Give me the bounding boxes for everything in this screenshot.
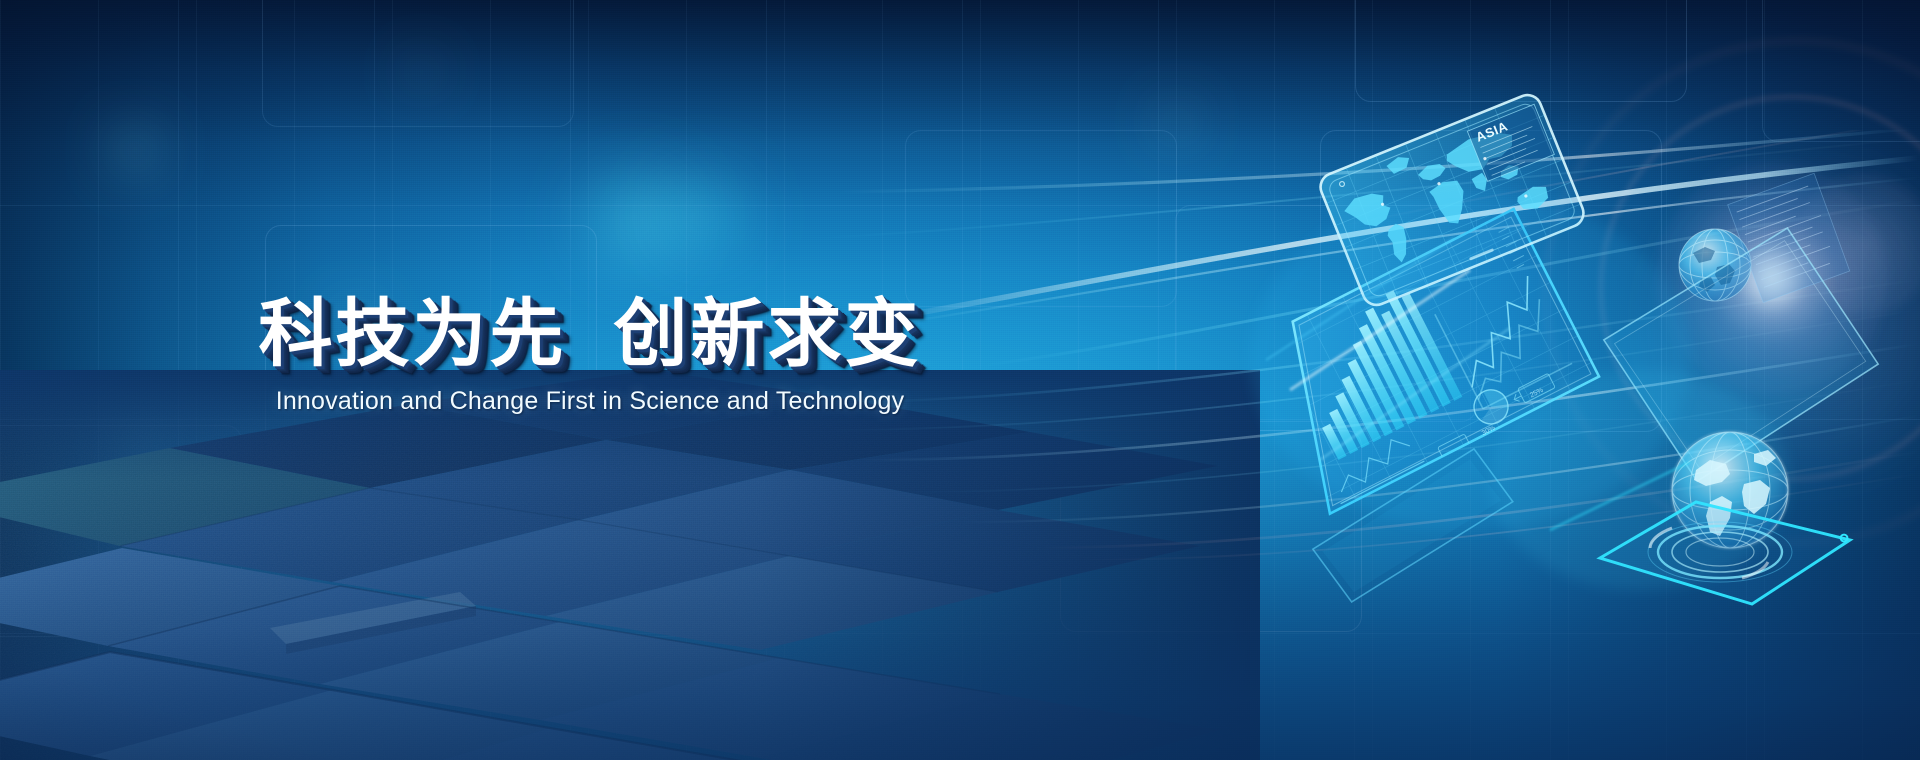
holographic-technology-collage: 30% 25%: [1170, 60, 1920, 620]
glow-blob-3: [105, 120, 165, 180]
page-title: 科技为先 创新求变: [0, 296, 1180, 373]
glow-blob-2: [638, 150, 768, 280]
banner-text-block: 科技为先 创新求变 Innovation and Change First in…: [0, 296, 1180, 416]
glow-blob-9: [400, 50, 444, 94]
hero-banner: 30% 25%: [0, 0, 1920, 760]
page-subtitle: Innovation and Change First in Science a…: [0, 387, 1180, 416]
